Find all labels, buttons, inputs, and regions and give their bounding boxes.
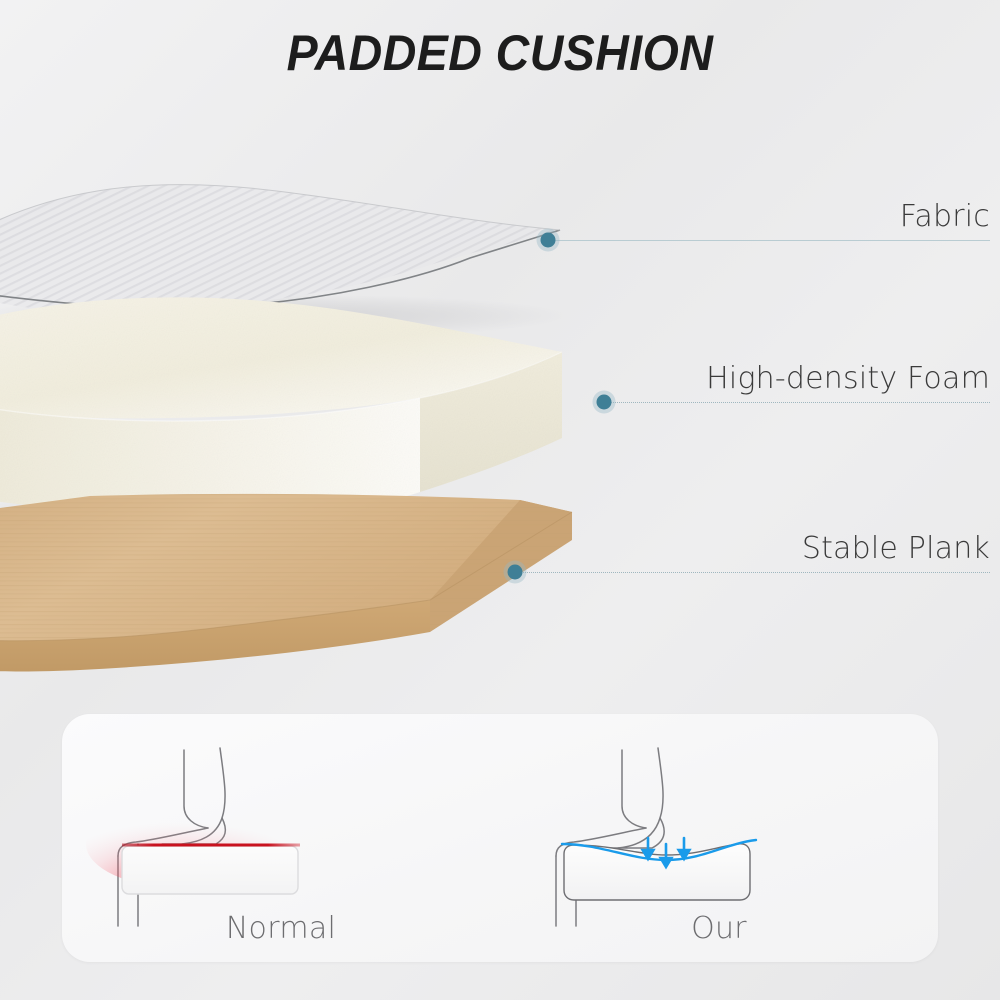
infographic-root: PADDED CUSHION xyxy=(0,0,1000,1000)
comparison-panel: Normal xyxy=(62,714,938,962)
flat-seat xyxy=(122,846,298,894)
callout-label-foam: High-density Foam xyxy=(706,361,990,396)
caption-normal: Normal xyxy=(62,911,500,946)
exploded-layer-diagram xyxy=(0,0,1000,700)
callout-label-fabric: Fabric xyxy=(900,199,990,234)
fabric-layer xyxy=(0,185,560,313)
callout-line-fabric xyxy=(548,240,990,241)
comparison-normal: Normal xyxy=(62,714,500,962)
comparison-our: Our xyxy=(500,714,938,962)
callout-dot-foam xyxy=(597,395,612,410)
callout-line-plank xyxy=(515,572,990,573)
pressure-line xyxy=(122,844,300,847)
callout-line-foam xyxy=(604,402,990,403)
contoured-seat xyxy=(564,844,750,900)
caption-our: Our xyxy=(500,911,938,946)
callout-label-plank: Stable Plank xyxy=(802,531,990,566)
callout-dot-plank xyxy=(508,565,523,580)
callout-dot-fabric xyxy=(541,233,556,248)
plank-layer xyxy=(0,494,572,672)
